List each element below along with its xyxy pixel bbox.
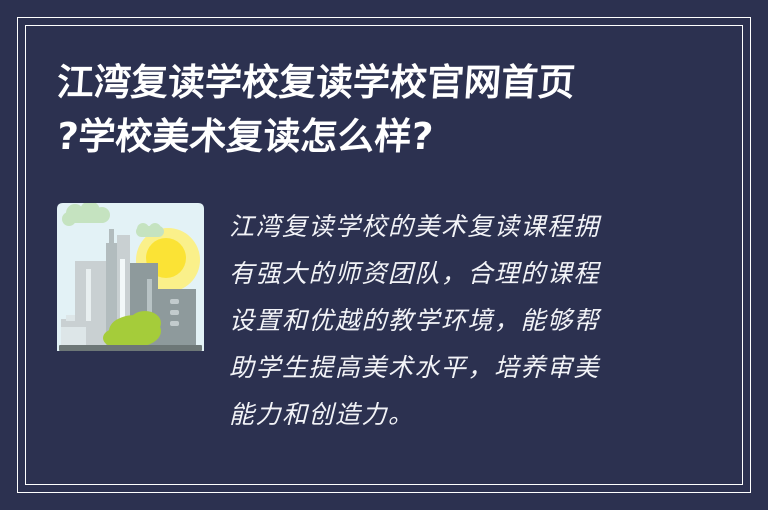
city-skyline-illustration	[57, 203, 204, 358]
city-illustration-svg	[57, 203, 204, 358]
building-center-stripe	[120, 259, 125, 321]
content-row: 江湾复读学校的美术复读课程拥 有强大的师资团队，合理的课程 设置和优越的教学环境…	[57, 203, 718, 438]
title-line-1: 江湾复读学校复读学校官网首页	[55, 56, 679, 110]
body-line-4: 助学生提高美术水平，培养审美	[229, 344, 600, 391]
sky-panel	[57, 203, 204, 351]
article-body: 江湾复读学校的美术复读课程拥 有强大的师资团队，合理的课程 设置和优越的教学环境…	[229, 203, 600, 438]
body-line-1: 江湾复读学校的美术复读课程拥	[229, 203, 600, 250]
body-line-2: 有强大的师资团队，合理的课程	[229, 250, 600, 297]
body-line-5: 能力和创造力。	[229, 391, 600, 438]
building-spire-mast	[109, 229, 114, 245]
building-foreground-box	[61, 327, 86, 345]
window-3	[170, 321, 179, 326]
title-line-2: ?学校美术复读怎么样?	[55, 110, 679, 164]
page-title: 江湾复读学校复读学校官网首页 ?学校美术复读怎么样?	[57, 56, 677, 164]
window-2	[170, 310, 179, 315]
window-1	[170, 299, 179, 304]
ground-bar	[59, 345, 202, 351]
body-line-3: 设置和优越的教学环境，能够帮	[229, 297, 600, 344]
building-tall-left-stripe	[86, 269, 91, 321]
building-right-windowed	[158, 289, 196, 345]
article-card: 江湾复读学校复读学校官网首页 ?学校美术复读怎么样?	[0, 0, 768, 510]
